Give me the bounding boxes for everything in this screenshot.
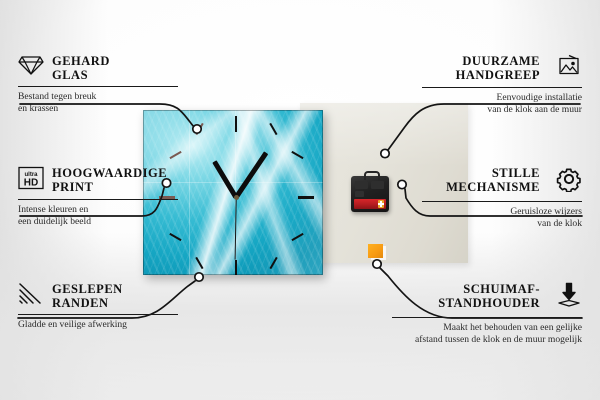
movement-detail: [355, 191, 364, 197]
callout-rule: [422, 87, 582, 88]
diamond-icon: [18, 54, 44, 81]
callout-title-line1: STILLE: [446, 166, 540, 180]
battery-plus-terminal: [378, 200, 384, 208]
callout-title-line2: RANDEN: [52, 296, 123, 310]
callout-rule: [18, 314, 178, 315]
callout-sub-line1: Maakt het behouden van een gelijke: [392, 322, 582, 334]
callout-title-line1: GESLEPEN: [52, 282, 123, 296]
callout-title-line2: GLAS: [52, 68, 110, 82]
callout-sub-line1: Eenvoudige installatie: [422, 92, 582, 104]
picture-frame-icon: [556, 54, 582, 83]
callout-hoogwaardige-print[interactable]: ultra HD HOOGWAARDIGE PRINT Intense kleu…: [18, 166, 178, 227]
callout-geslepen-randen[interactable]: GESLEPEN RANDEN Gladde en veilige afwerk…: [18, 282, 178, 331]
hanger-icon: [364, 171, 380, 180]
callout-title-line2: HANDGREEP: [456, 68, 540, 82]
ultra-hd-icon: ultra HD: [18, 166, 44, 195]
callout-sub-line1: Gladde en veilige afwerking: [18, 319, 178, 331]
callout-schuimafstandhouder[interactable]: SCHUIMAF- STANDHOUDER Maakt het behouden…: [392, 282, 582, 345]
aa-battery: [354, 199, 386, 209]
callout-sub-line2: van de klok aan de muur: [422, 104, 582, 116]
callout-sub-line2: afstand tussen de klok en de muur mogeli…: [392, 334, 582, 346]
callout-rule: [18, 86, 178, 87]
callout-sub-line1: Bestand tegen breuk: [18, 91, 178, 103]
callout-title-line2: PRINT: [52, 180, 167, 194]
callout-gehard-glas[interactable]: GEHARD GLAS Bestand tegen breuk en krass…: [18, 54, 178, 114]
callout-rule: [422, 201, 582, 202]
callout-duurzame-handgreep[interactable]: DUURZAME HANDGREEP Eenvoudige installati…: [422, 54, 582, 115]
foam-spacer: [368, 244, 383, 258]
callout-sub-line2: en krassen: [18, 103, 178, 115]
callout-stille-mechanisme[interactable]: STILLE MECHANISME Geruisloze wijzers van…: [422, 166, 582, 229]
beveled-edge-icon: [18, 282, 44, 309]
gear-icon: [556, 166, 582, 197]
product-infographic: GEHARD GLAS Bestand tegen breuk en krass…: [0, 0, 600, 400]
movement-detail: [371, 181, 384, 189]
callout-title-line1: GEHARD: [52, 54, 110, 68]
callout-title-line1: DUURZAME: [456, 54, 540, 68]
callout-sub-line2: van de klok: [422, 218, 582, 230]
callout-title-line1: HOOGWAARDIGE: [52, 166, 167, 180]
callout-title-line2: MECHANISME: [446, 180, 540, 194]
callout-sub-line1: Geruisloze wijzers: [422, 206, 582, 218]
callout-rule: [18, 199, 178, 200]
callout-rule: [392, 317, 582, 318]
down-arrow-block-icon: [556, 282, 582, 313]
callout-sub-line1: Intense kleuren en: [18, 204, 178, 216]
callout-title-line1: SCHUIMAF-: [438, 282, 540, 296]
callout-title-line2: STANDHOUDER: [438, 296, 540, 310]
callout-sub-line2: een duidelijk beeld: [18, 216, 178, 228]
icon-text-hd: HD: [24, 178, 38, 189]
movement-detail: [355, 181, 368, 189]
clock-movement-mechanism: [351, 176, 389, 212]
